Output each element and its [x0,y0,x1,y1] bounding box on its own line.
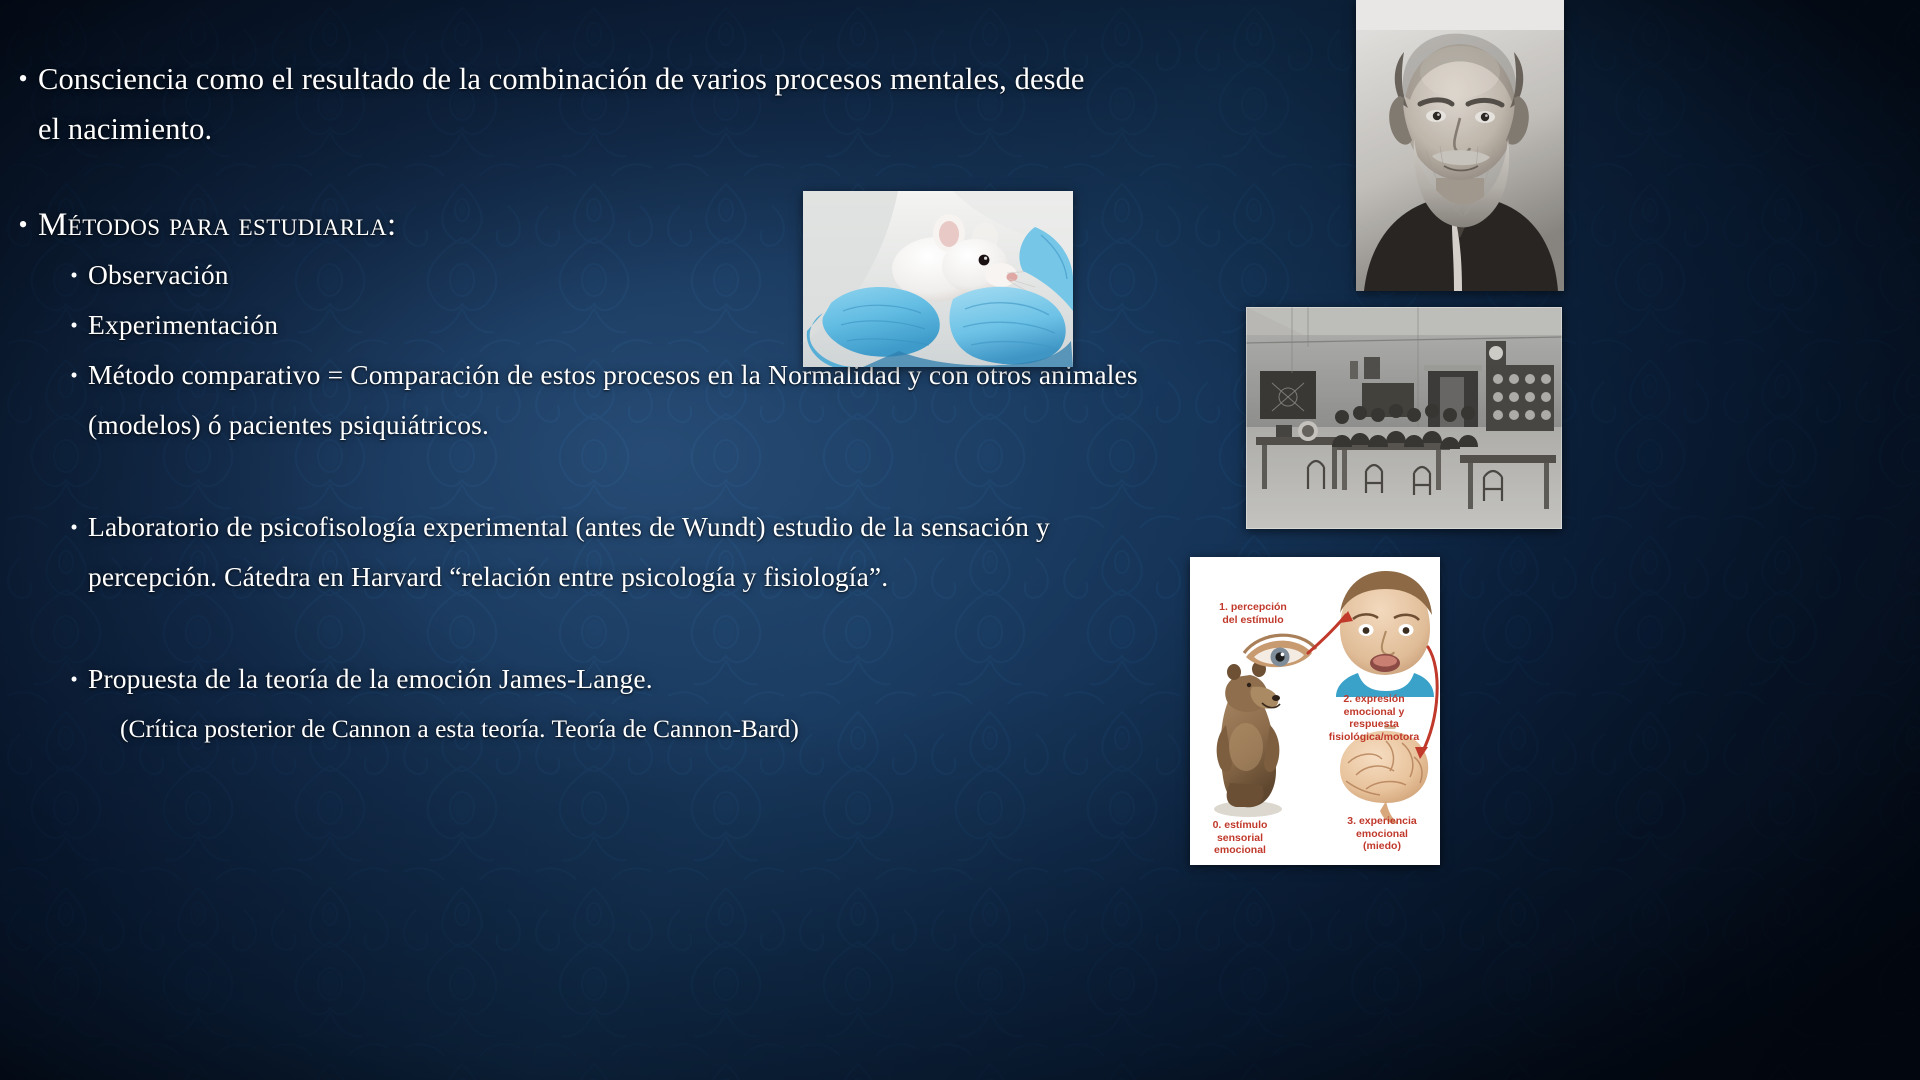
james-lange-emotion-diagram: 1. percepcióndel estímulo 2. expresiónem… [1190,557,1440,865]
bullet-marker: • [8,200,38,250]
bullet-marker: • [60,654,88,704]
bullet-marker: • [60,300,88,350]
historic-psychology-lab-photo [1246,307,1562,529]
spacer [0,450,1210,502]
presentation-slide: • Consciencia como el resultado de la co… [0,0,1920,1080]
bullet-text: Experimentación [88,300,278,350]
emotion-label-step-1: 1. percepcióndel estímulo [1204,601,1302,626]
bullet-james-lange: • Propuesta de la teoría de la emoción J… [0,654,1210,704]
spacer [0,602,1210,654]
bullet-text: Métodos para estudiarla: [38,200,397,250]
bullet-text: (Crítica posterior de Cannon a esta teor… [120,704,799,754]
bullet-laboratorio: • Laboratorio de psicofisología experime… [0,502,1210,602]
william-james-portrait [1356,0,1564,291]
bullet-consciencia: • Consciencia como el resultado de la co… [0,54,1210,154]
lab-mouse-photo [803,191,1073,367]
bullet-marker: • [60,350,88,400]
emotion-label-step-2: 2. expresiónemocional yrespuestafisiológ… [1312,693,1436,743]
bullet-marker: • [8,54,38,104]
bullet-cannon-bard-note: (Crítica posterior de Cannon a esta teor… [0,704,1210,754]
emotion-label-step-0: 0. estímulosensorialemocional [1194,819,1286,857]
bullet-text: Consciencia como el resultado de la comb… [38,54,1108,154]
bullet-text: Propuesta de la teoría de la emoción Jam… [88,654,653,704]
bullet-text: Observación [88,250,229,300]
bullet-marker: • [60,502,88,552]
emotion-label-step-3: 3. experienciaemocional(miedo) [1330,815,1434,853]
slide-body-text: • Consciencia como el resultado de la co… [0,54,1210,754]
bullet-marker: • [60,250,88,300]
bullet-text: Laboratorio de psicofisología experiment… [88,502,1178,602]
